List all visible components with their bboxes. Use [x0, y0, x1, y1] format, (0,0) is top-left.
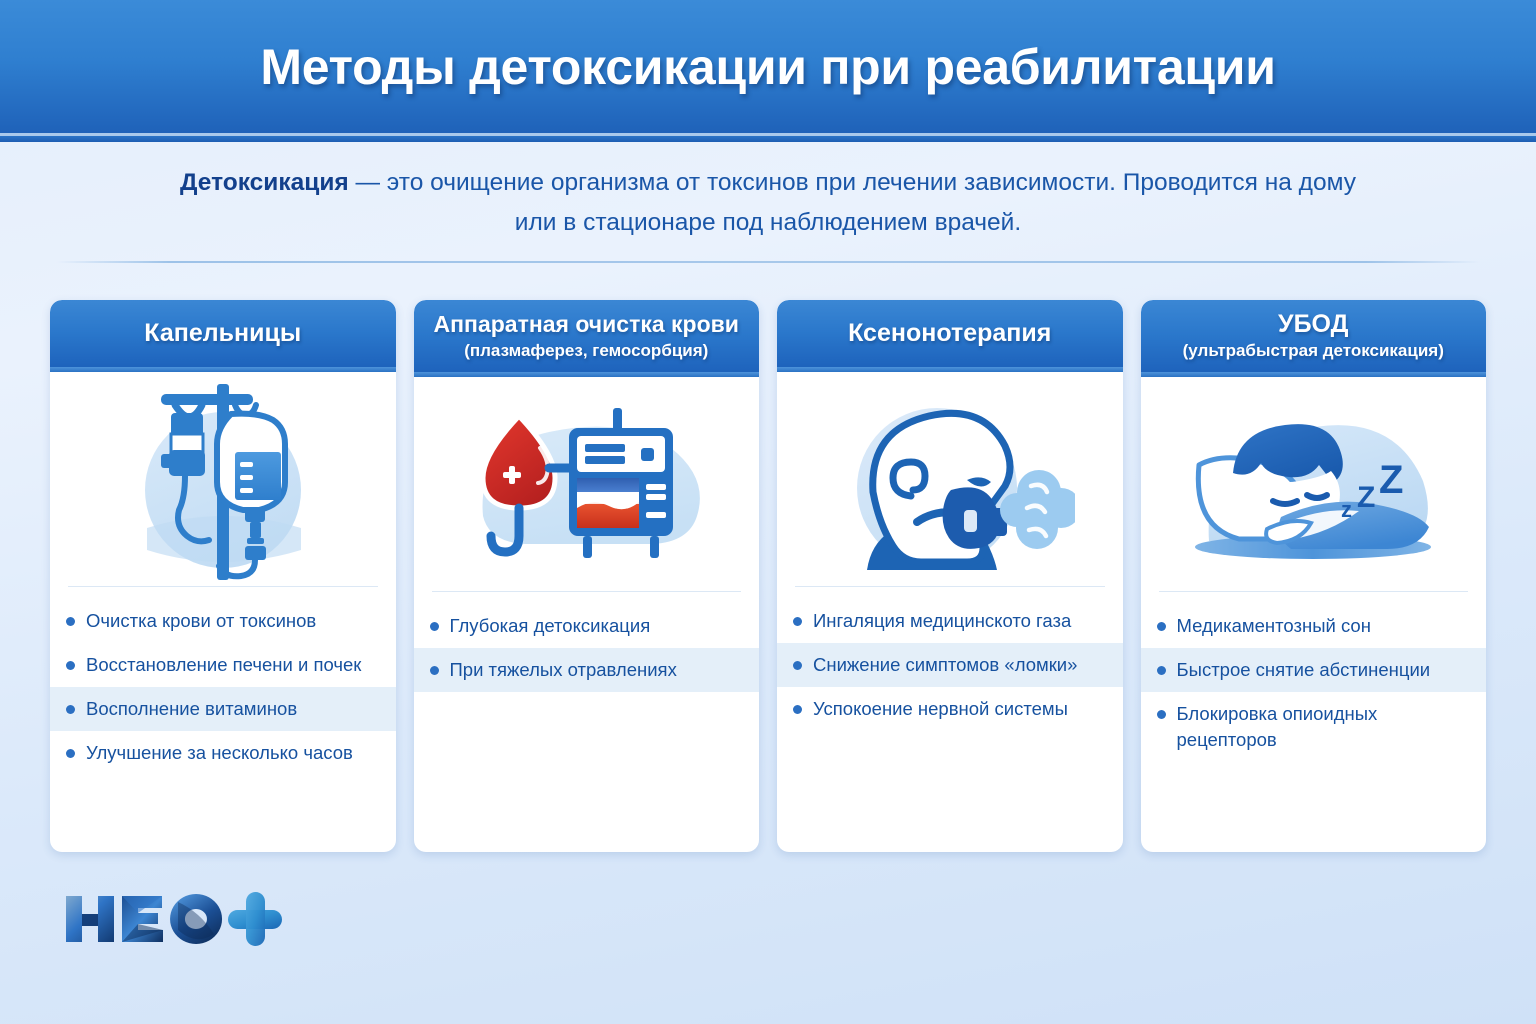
- header-banner: Методы детоксикации при реабилитации: [0, 0, 1536, 133]
- bullet-dot-icon: [793, 661, 802, 670]
- intro-rest-text: — это очищение организма от токсинов при…: [349, 169, 1356, 236]
- bullet-dot-icon: [793, 617, 802, 626]
- blood-purification-machine-icon: [414, 379, 760, 591]
- list-item-label: Успокоение нервной системы: [813, 696, 1109, 722]
- card-title: УБОД: [1151, 309, 1477, 339]
- list-item-label: Быстрое снятие абстиненции: [1177, 657, 1473, 683]
- card-subtitle: (ультрабыстрая детоксикация): [1151, 340, 1477, 362]
- oxygen-mask-head-icon: [777, 374, 1123, 586]
- svg-text:Z: Z: [1357, 481, 1375, 514]
- card-title: Ксенонотерапия: [787, 318, 1113, 348]
- list-item-highlighted: Восполнение витаминов: [50, 687, 396, 731]
- list-item: Восстановление печени и почек: [50, 643, 396, 687]
- bullet-dot-icon: [793, 705, 802, 714]
- list-item-label: Медикаментозный сон: [1177, 613, 1473, 639]
- list-item: Блокировка опиоидных рецепторов: [1141, 692, 1487, 762]
- list-item-label: Восстановление печени и почек: [86, 652, 382, 678]
- card-title: Аппаратная очистка крови: [424, 309, 750, 339]
- card-header: Аппаратная очистка крови (плазмаферез, г…: [414, 300, 760, 372]
- card-subtitle: (плазмаферез, гемосорбция): [424, 340, 750, 362]
- card-ksenonoterapiya[interactable]: Ксенонотерапия: [777, 300, 1123, 852]
- bullet-dot-icon: [1157, 622, 1166, 631]
- svg-text:z: z: [1341, 497, 1352, 522]
- list-item-label: Блокировка опиоидных рецепторов: [1177, 701, 1473, 753]
- page-title: Методы детоксикации при реабилитации: [260, 38, 1275, 96]
- list-item-label: Улучшение за несколько часов: [86, 740, 382, 766]
- banner-divider-dark: [0, 136, 1536, 142]
- bullet-dot-icon: [66, 705, 75, 714]
- card-header: Ксенонотерапия: [777, 300, 1123, 367]
- list-item-highlighted: При тяжелых отравлениях: [414, 648, 760, 692]
- iv-drip-icon: [50, 374, 396, 586]
- section-divider: [56, 261, 1480, 263]
- neo-plus-logo: [60, 888, 290, 950]
- list-item-highlighted: Быстрое снятие абстиненции: [1141, 648, 1487, 692]
- card-kapelnitsy[interactable]: Капельницы: [50, 300, 396, 852]
- bullet-dot-icon: [1157, 710, 1166, 719]
- card-apparatnaya-ochistka-krovi[interactable]: Аппаратная очистка крови (плазмаферез, г…: [414, 300, 760, 852]
- bullet-dot-icon: [430, 622, 439, 631]
- list-item: Глубокая детоксикация: [414, 604, 760, 648]
- card-title: Капельницы: [60, 318, 386, 348]
- svg-text:Z: Z: [1379, 458, 1403, 502]
- bullet-dot-icon: [66, 661, 75, 670]
- benefits-list: Ингаляция медицинското газа Снижение сим…: [777, 587, 1123, 852]
- list-item: Успокоение нервной системы: [777, 687, 1123, 731]
- list-item-label: Глубокая детоксикация: [450, 613, 746, 639]
- bullet-dot-icon: [66, 749, 75, 758]
- bullet-dot-icon: [66, 617, 75, 626]
- bullet-dot-icon: [1157, 666, 1166, 675]
- list-item-label: Снижение симптомов «ломки»: [813, 652, 1109, 678]
- benefits-list: Очистка крови от токсинов Восстановление…: [50, 587, 396, 852]
- list-item-label: Очистка крови от токсинов: [86, 608, 382, 634]
- method-cards-row: Капельницы: [50, 300, 1486, 852]
- benefits-list: Глубокая детоксикация При тяжелых отравл…: [414, 592, 760, 852]
- list-item-label: При тяжелых отравлениях: [450, 657, 746, 683]
- card-header: УБОД (ультрабыстрая детоксикация): [1141, 300, 1487, 372]
- list-item: Ингаляция медицинското газа: [777, 599, 1123, 643]
- list-item: Медикаментозный сон: [1141, 604, 1487, 648]
- intro-paragraph: Детоксикация — это очищение организма от…: [173, 163, 1363, 243]
- list-item: Улучшение за несколько часов: [50, 731, 396, 775]
- benefits-list: Медикаментозный сон Быстрое снятие абсти…: [1141, 592, 1487, 852]
- sleeping-person-icon: z Z Z: [1141, 379, 1487, 591]
- card-header: Капельницы: [50, 300, 396, 367]
- list-item-label: Восполнение витаминов: [86, 696, 382, 722]
- list-item-label: Ингаляция медицинското газа: [813, 608, 1109, 634]
- card-ubod[interactable]: УБОД (ультрабыстрая детоксикация): [1141, 300, 1487, 852]
- list-item: Очистка крови от токсинов: [50, 599, 396, 643]
- intro-lead-term: Детоксикация: [180, 169, 349, 196]
- list-item-highlighted: Снижение симптомов «ломки»: [777, 643, 1123, 687]
- bullet-dot-icon: [430, 666, 439, 675]
